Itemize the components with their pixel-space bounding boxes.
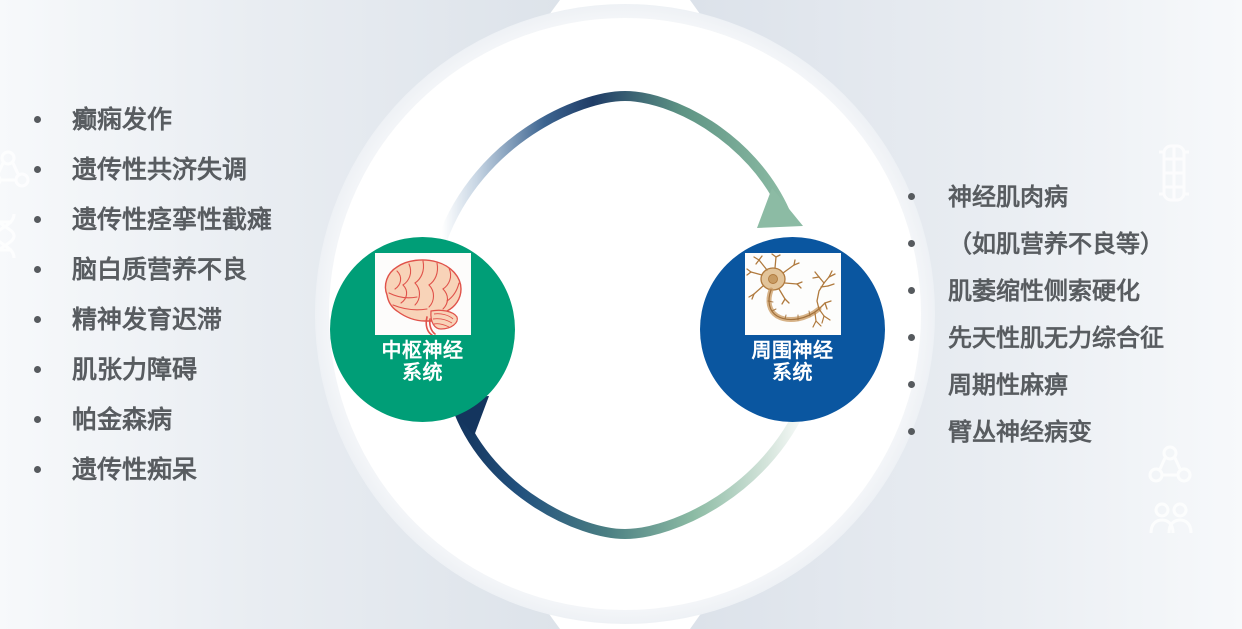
bullet-icon: [908, 381, 915, 388]
node-peripheral-nervous-system[interactable]: 周围神经 系统: [700, 237, 885, 422]
list-item: 神经肌肉病: [908, 186, 1238, 233]
list-item-label: 臂丛神经病变: [948, 421, 1092, 445]
bullet-icon: [34, 116, 41, 123]
bullet-icon: [908, 287, 915, 294]
list-item-label: 遗传性痴呆: [72, 458, 197, 483]
bullet-icon: [34, 316, 41, 323]
left-disease-list: 癫痫发作 遗传性共济失调 遗传性痉挛性截瘫 脑白质营养不良 精神发育迟滞 肌张力…: [34, 108, 354, 508]
list-item: 周期性麻痹: [908, 374, 1238, 421]
list-item-label: 帕金森病: [72, 408, 172, 433]
node-central-nervous-system[interactable]: 中枢神经 系统: [330, 237, 515, 422]
list-item: 遗传性痴呆: [34, 458, 354, 508]
bullet-icon: [34, 416, 41, 423]
list-item-label: 周期性麻痹: [948, 374, 1068, 398]
bullet-icon: [34, 366, 41, 373]
list-item-label: 遗传性痉挛性截瘫: [72, 208, 272, 233]
bullet-icon: [34, 166, 41, 173]
list-item: 帕金森病: [34, 408, 354, 458]
list-item: 脑白质营养不良: [34, 258, 354, 308]
list-item: 肌萎缩性侧索硬化: [908, 280, 1238, 327]
infographic-canvas: 中枢神经 系统: [0, 0, 1242, 629]
bullet-icon: [908, 240, 915, 247]
bullet-icon: [908, 334, 915, 341]
bullet-icon: [34, 216, 41, 223]
list-item-label: 先天性肌无力综合征: [948, 327, 1164, 351]
list-item-label: 神经肌肉病: [948, 186, 1068, 210]
list-item: 遗传性共济失调: [34, 158, 354, 208]
list-item-label: 肌萎缩性侧索硬化: [948, 280, 1140, 304]
list-item-label: 精神发育迟滞: [72, 308, 222, 333]
list-item-label: 脑白质营养不良: [72, 258, 247, 283]
list-item-label: 癫痫发作: [72, 108, 172, 133]
list-item: 遗传性痉挛性截瘫: [34, 208, 354, 258]
bullet-icon: [908, 193, 915, 200]
list-item-label: 遗传性共济失调: [72, 158, 247, 183]
bullet-icon: [34, 266, 41, 273]
list-item: （如肌营养不良等）: [908, 233, 1238, 280]
node-label-cns: 中枢神经 系统: [382, 340, 464, 385]
brain-illustration-icon: [375, 253, 471, 335]
node-label-pns: 周围神经 系统: [752, 340, 834, 385]
list-item-label: （如肌营养不良等）: [948, 233, 1164, 257]
bullet-icon: [908, 428, 915, 435]
list-item-label: 肌张力障碍: [72, 358, 197, 383]
bullet-icon: [34, 466, 41, 473]
list-item: 癫痫发作: [34, 108, 354, 158]
list-item: 先天性肌无力综合征: [908, 327, 1238, 374]
list-item: 精神发育迟滞: [34, 308, 354, 358]
list-item: 肌张力障碍: [34, 358, 354, 408]
arrow-cns-to-pns: [442, 96, 803, 240]
list-item: 臂丛神经病变: [908, 421, 1238, 468]
right-disease-list: 神经肌肉病 （如肌营养不良等） 肌萎缩性侧索硬化 先天性肌无力综合征 周期性麻痹…: [908, 186, 1238, 468]
neuron-illustration-icon: [745, 253, 841, 335]
